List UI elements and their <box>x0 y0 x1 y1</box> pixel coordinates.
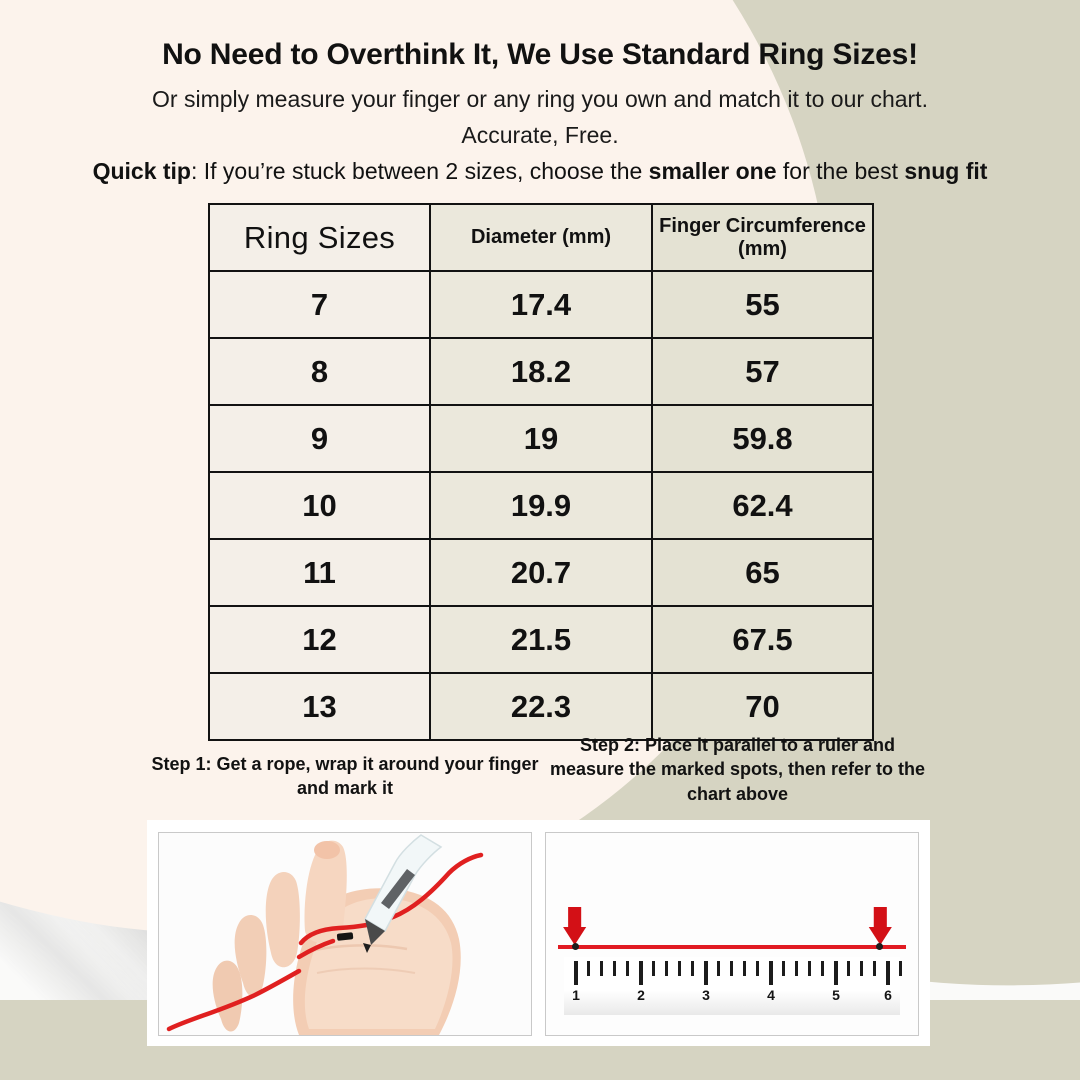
quick-tip-text-2: for the best <box>777 158 905 184</box>
ruler-tick-minor <box>665 961 668 976</box>
cell-ring-size: 10 <box>209 472 430 539</box>
page-title: No Need to Overthink It, We Use Standard… <box>0 38 1080 72</box>
measure-mark-start <box>572 943 579 950</box>
quick-tip-emphasis-2: snug fit <box>904 158 987 184</box>
table-row: 10 19.9 62.4 <box>209 472 873 539</box>
ruler-tick-minor <box>743 961 746 976</box>
cell-circumference: 70 <box>652 673 873 740</box>
ruler-tick-major <box>639 961 643 985</box>
ruler-tick-minor <box>600 961 603 976</box>
table-row: 8 18.2 57 <box>209 338 873 405</box>
cell-circumference: 62.4 <box>652 472 873 539</box>
ring-size-guide-poster: No Need to Overthink It, We Use Standard… <box>0 0 1080 1080</box>
ruler-tick-minor <box>652 961 655 976</box>
step-1-caption: Step 1: Get a rope, wrap it around your … <box>150 752 540 801</box>
column-header-circumference-line-2: (mm) <box>653 238 872 261</box>
ruler-label: 5 <box>832 987 840 1003</box>
ruler-scale: 1 2 3 4 5 6 <box>564 957 900 1015</box>
ruler-tick-minor <box>782 961 785 976</box>
cell-ring-size: 12 <box>209 606 430 673</box>
ruler-label: 6 <box>884 987 892 1003</box>
cell-diameter: 19 <box>430 405 652 472</box>
ruler-tick-minor <box>691 961 694 976</box>
step-2-caption: Step 2: Place it parallel to a ruler and… <box>545 733 930 806</box>
cell-ring-size: 8 <box>209 338 430 405</box>
ruler-tick-minor <box>808 961 811 976</box>
illustration-ruler-measurement: 1 2 3 4 5 6 <box>545 832 919 1036</box>
ruler-label: 2 <box>637 987 645 1003</box>
illustration-hand-with-string <box>158 832 532 1036</box>
cell-ring-size: 7 <box>209 271 430 338</box>
ruler-tick-major <box>574 961 578 985</box>
table-row: 9 19 59.8 <box>209 405 873 472</box>
cell-diameter: 17.4 <box>430 271 652 338</box>
quick-tip-line: Quick tip: If you’re stuck between 2 siz… <box>0 158 1080 185</box>
quick-tip-label: Quick tip <box>93 158 191 184</box>
illustration-panel: 1 2 3 4 5 6 <box>147 820 930 1046</box>
ruler-tick-minor <box>795 961 798 976</box>
quick-tip-emphasis-1: smaller one <box>649 158 777 184</box>
table-row: 7 17.4 55 <box>209 271 873 338</box>
measure-mark-end <box>876 943 883 950</box>
table-row: 12 21.5 67.5 <box>209 606 873 673</box>
cell-diameter: 19.9 <box>430 472 652 539</box>
cell-circumference: 65 <box>652 539 873 606</box>
ruler-tick-minor <box>678 961 681 976</box>
cell-circumference: 57 <box>652 338 873 405</box>
ruler-tick-major <box>834 961 838 985</box>
subtitle-line-1: Or simply measure your finger or any rin… <box>0 86 1080 113</box>
table-header-row: Ring Sizes Diameter (mm) Finger Circumfe… <box>209 204 873 271</box>
ring-size-table: Ring Sizes Diameter (mm) Finger Circumfe… <box>208 203 874 741</box>
ruler-tick-minor <box>730 961 733 976</box>
ruler-tick-minor <box>717 961 720 976</box>
cell-circumference: 67.5 <box>652 606 873 673</box>
cell-diameter: 21.5 <box>430 606 652 673</box>
ruler-tick-minor <box>899 961 902 976</box>
ruler-tick-minor <box>613 961 616 976</box>
column-header-circumference: Finger Circumference (mm) <box>652 204 873 271</box>
cell-ring-size: 13 <box>209 673 430 740</box>
ruler-tick-minor <box>860 961 863 976</box>
column-header-diameter: Diameter (mm) <box>430 204 652 271</box>
measured-red-string <box>558 945 906 949</box>
ruler-tick-minor <box>587 961 590 976</box>
ruler-tick-minor <box>756 961 759 976</box>
cell-ring-size: 11 <box>209 539 430 606</box>
ruler-tick-major <box>769 961 773 985</box>
cell-diameter: 22.3 <box>430 673 652 740</box>
ruler-diagram: 1 2 3 4 5 6 <box>546 833 918 1035</box>
ruler-tick-minor <box>873 961 876 976</box>
cell-ring-size: 9 <box>209 405 430 472</box>
table-row: 11 20.7 65 <box>209 539 873 606</box>
ruler-tick-minor <box>821 961 824 976</box>
column-header-circumference-line-1: Finger Circumference <box>653 215 872 238</box>
subtitle-line-2: Accurate, Free. <box>0 122 1080 149</box>
cell-diameter: 18.2 <box>430 338 652 405</box>
cell-circumference: 59.8 <box>652 405 873 472</box>
ruler-label: 1 <box>572 987 580 1003</box>
ruler-tick-major <box>704 961 708 985</box>
ruler-label: 4 <box>767 987 775 1003</box>
quick-tip-text-1: : If you’re stuck between 2 sizes, choos… <box>191 158 649 184</box>
ruler-tick-minor <box>626 961 629 976</box>
hand-string-icon <box>159 833 531 1035</box>
ruler-label: 3 <box>702 987 710 1003</box>
table-row: 13 22.3 70 <box>209 673 873 740</box>
cell-circumference: 55 <box>652 271 873 338</box>
ruler-tick-major <box>886 961 890 985</box>
ruler-tick-minor <box>847 961 850 976</box>
column-header-ring-sizes: Ring Sizes <box>209 204 430 271</box>
cell-diameter: 20.7 <box>430 539 652 606</box>
